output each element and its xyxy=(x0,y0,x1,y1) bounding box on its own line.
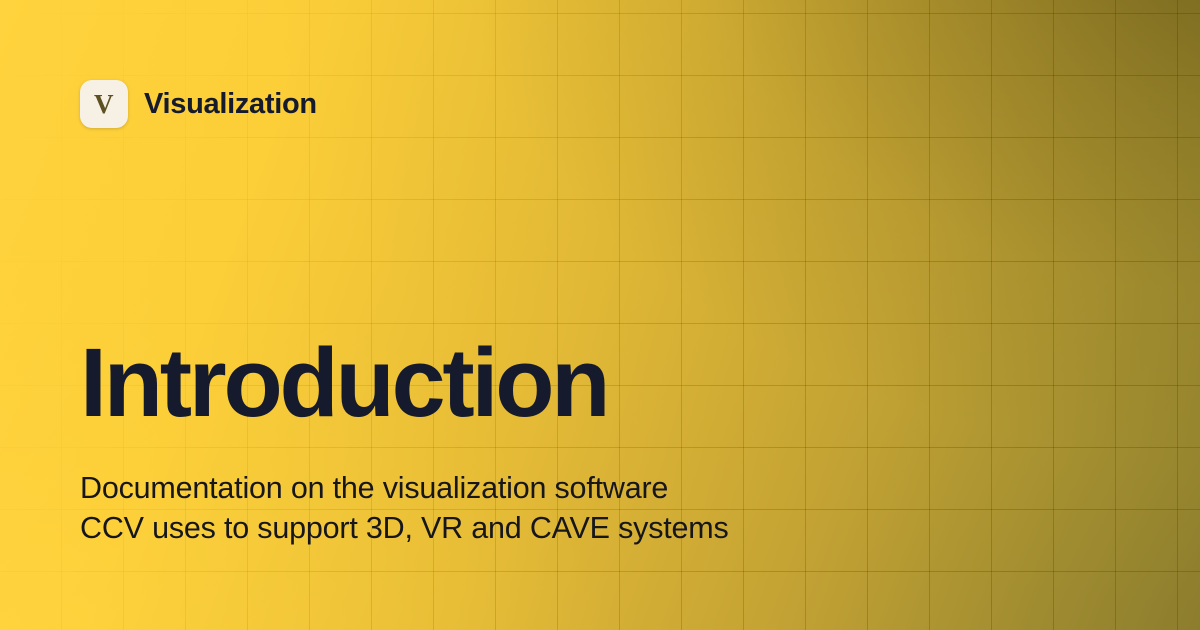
card-content: V Visualization Introduction Documentati… xyxy=(0,0,1200,630)
page-subtitle-line-1: Documentation on the visualization softw… xyxy=(80,468,729,508)
page-title: Introduction xyxy=(80,333,607,434)
brand-badge-letter: V xyxy=(94,91,114,118)
page-subtitle-line-2: CCV uses to support 3D, VR and CAVE syst… xyxy=(80,508,729,548)
og-card: V Visualization Introduction Documentati… xyxy=(0,0,1200,630)
visualization-logo-icon: V xyxy=(80,80,128,128)
brand-header[interactable]: V Visualization xyxy=(80,80,317,128)
brand-name: Visualization xyxy=(144,90,317,119)
page-subtitle: Documentation on the visualization softw… xyxy=(80,468,729,548)
